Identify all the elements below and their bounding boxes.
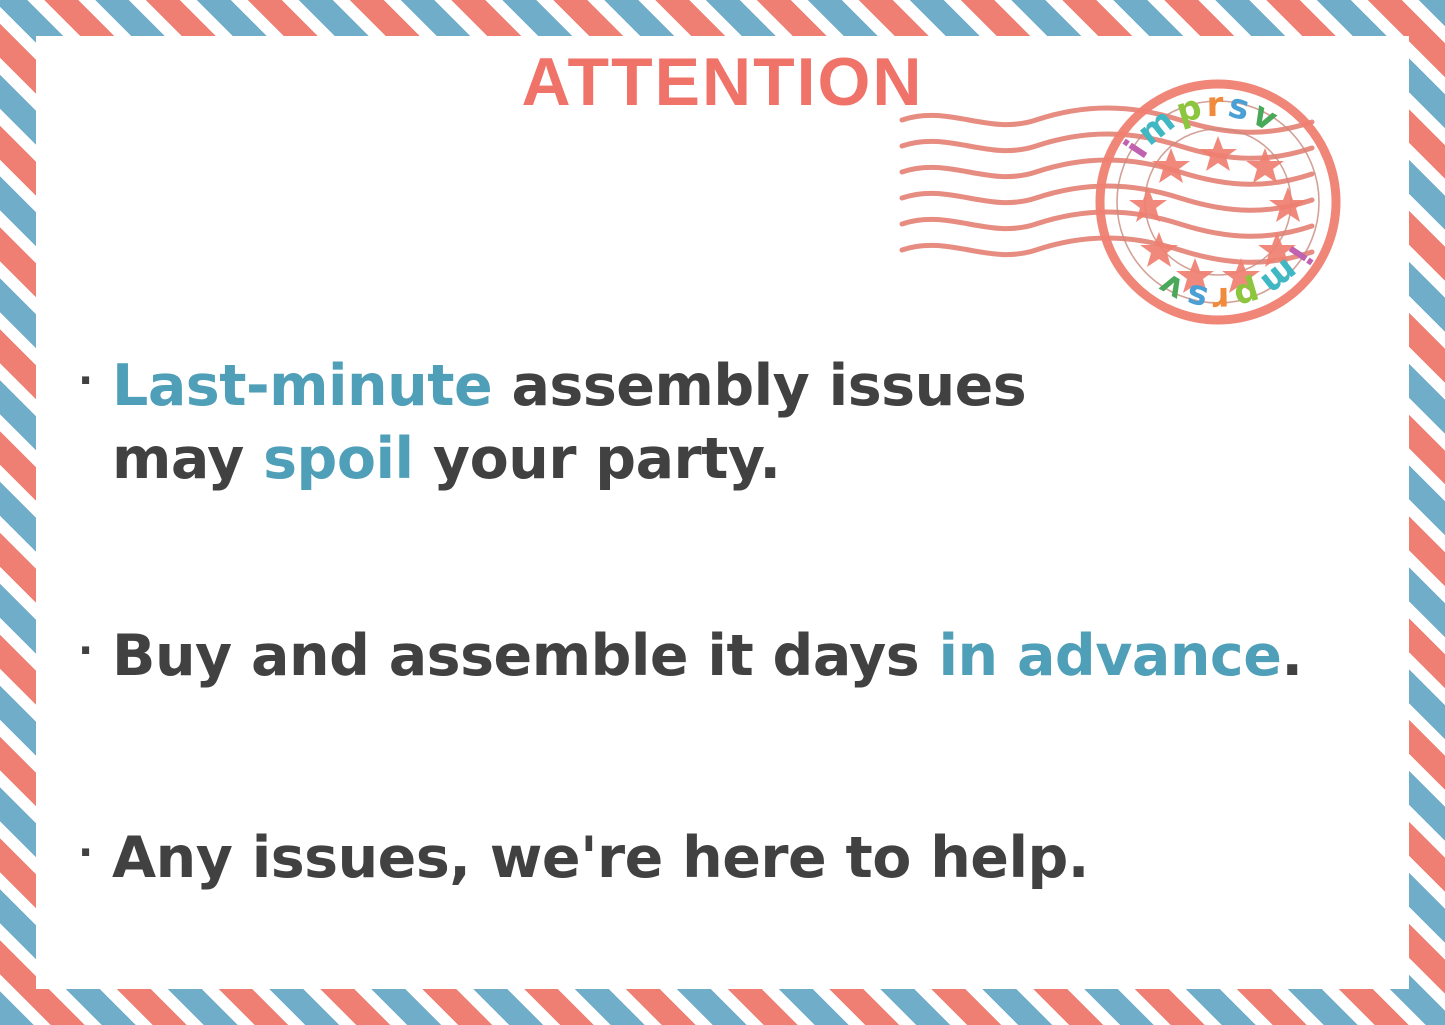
body-text: may [112,426,263,492]
postmark-stamp: imprsv imprsv [880,70,1380,335]
list-item: · Last-minute assembly issues may spoil … [78,350,1278,496]
body-text: . [1281,623,1302,689]
list-item: · Buy and assemble it days in advance. [78,620,1408,693]
highlight-text: spoil [263,426,413,492]
bullet-marker-icon: · [78,350,112,412]
body-text: your party. [414,426,781,492]
list-item-text: Last-minute assembly issues may spoil yo… [112,350,1278,496]
highlight-text: Last-minute [112,353,492,419]
body-text: Any issues, we're here to help. [112,825,1089,891]
body-text: Buy and assemble it days [112,623,939,689]
list-item-text: Buy and assemble it days in advance. [112,620,1408,693]
list-item: · Any issues, we're here to help. [78,822,1408,895]
bullet-marker-icon: · [78,822,112,884]
bullet-marker-icon: · [78,620,112,682]
list-item-text: Any issues, we're here to help. [112,822,1408,895]
highlight-text: in advance [939,623,1282,689]
attention-card: ATTENTION [0,0,1445,1025]
body-text: assembly issues [492,353,1026,419]
